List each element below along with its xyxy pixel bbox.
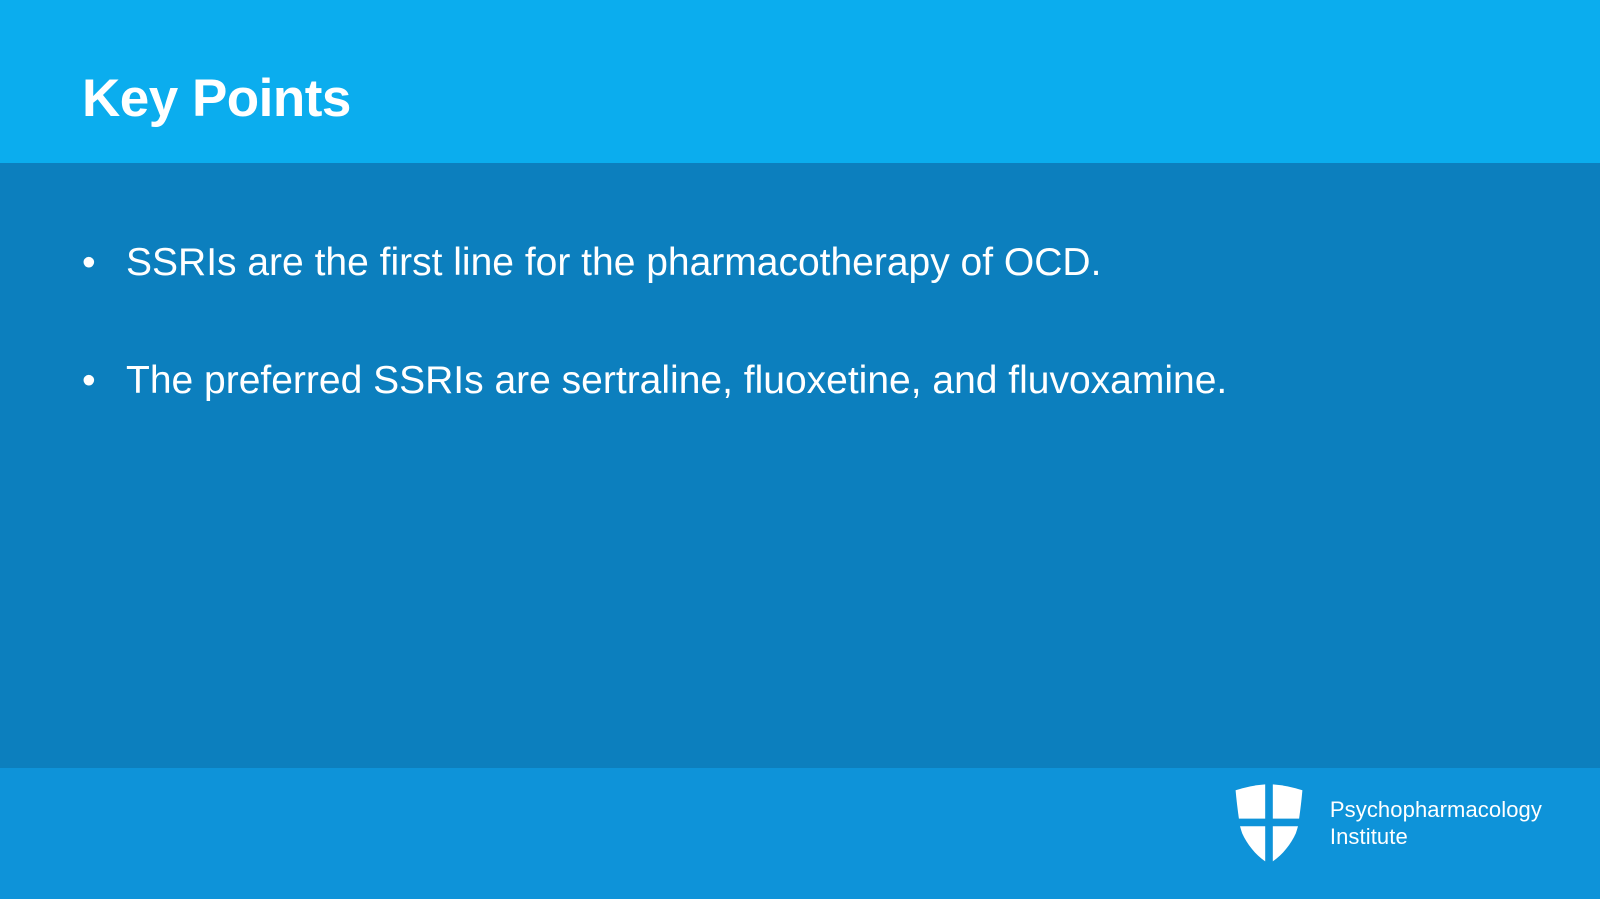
slide: Key Points • SSRIs are the first line fo… xyxy=(0,0,1600,899)
brand-name-line-2: Institute xyxy=(1330,823,1542,850)
list-item-text: The preferred SSRIs are sertraline, fluo… xyxy=(126,356,1528,406)
brand-name-line-1: Psychopharmacology xyxy=(1330,796,1542,823)
slide-header-band: Key Points xyxy=(0,0,1600,163)
shield-logo-icon xyxy=(1231,783,1307,863)
list-item: • The preferred SSRIs are sertraline, fl… xyxy=(78,356,1528,406)
slide-title: Key Points xyxy=(82,68,351,130)
list-item-text: SSRIs are the first line for the pharmac… xyxy=(126,238,1528,288)
slide-body: • SSRIs are the first line for the pharm… xyxy=(0,163,1600,768)
bullet-point-icon: • xyxy=(82,356,102,406)
brand-wordmark: Psychopharmacology Institute xyxy=(1330,796,1542,850)
brand-logo-lockup: Psychopharmacology Institute xyxy=(1231,777,1542,869)
key-points-list: • SSRIs are the first line for the pharm… xyxy=(78,238,1528,406)
bullet-point-icon: • xyxy=(82,238,102,288)
slide-footer-band: Psychopharmacology Institute xyxy=(0,768,1600,899)
list-item: • SSRIs are the first line for the pharm… xyxy=(78,238,1528,288)
